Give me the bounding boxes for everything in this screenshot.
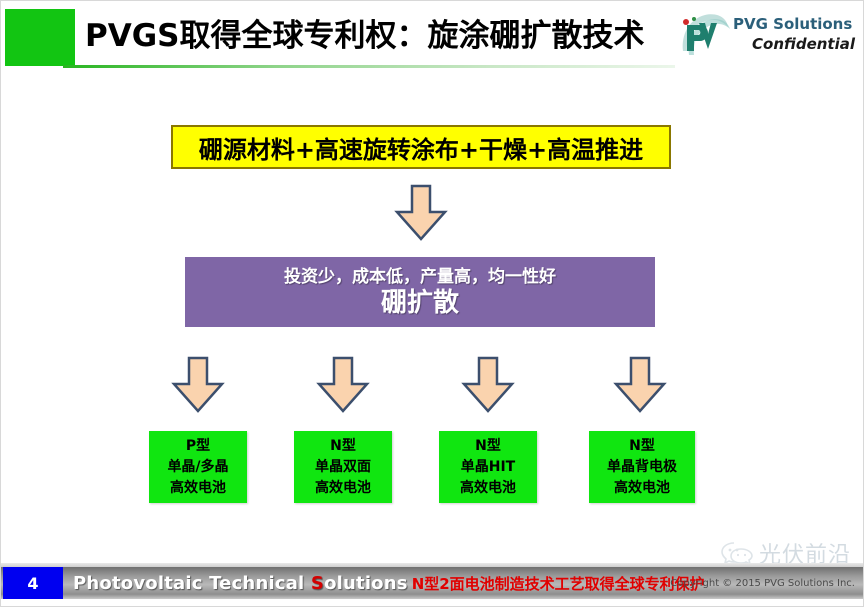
brand-confidential-label: Confidential (733, 34, 855, 54)
footer-brand-line: Photovoltaic Technical Solutions N型2面电池制… (73, 567, 705, 599)
footer-copyright: Copyright © 2015 PVG Solutions Inc. (670, 567, 855, 599)
brand-name: PVG Solutions (733, 15, 855, 34)
outcome-line: 单晶背电极 (607, 457, 677, 478)
footer-brand-s: S (311, 573, 324, 594)
page-title: PVGS取得全球专利权：旋涂硼扩散技术 (85, 13, 665, 59)
down-arrow-icon (461, 356, 515, 414)
outcome-line: 高效电池 (170, 478, 226, 499)
down-arrow-icon (613, 356, 667, 414)
outcome-box-4: N型 单晶背电极 高效电池 (589, 431, 695, 503)
footer-brand-post: olutions (324, 573, 408, 594)
slide-canvas: PVGS取得全球专利权：旋涂硼扩散技术 PVG Solutions Confid… (0, 0, 864, 607)
down-arrow-icon (171, 356, 225, 414)
footer-brand-pre: Photovoltaic Technical Solutions (73, 573, 408, 594)
outcome-line: 高效电池 (614, 478, 670, 499)
brand-logo-text: PVG Solutions Confidential (733, 15, 855, 54)
result-box: 投资少，成本低，产量高，均一性好 硼扩散 (185, 257, 655, 327)
page-number: 4 (27, 574, 38, 593)
outcome-line: 单晶双面 (315, 457, 371, 478)
outcome-line: 高效电池 (460, 478, 516, 499)
footer-tagline-cn: N型2面电池制造技术工艺取得全球专利保护 (412, 573, 705, 594)
outcome-line: N型 (629, 436, 655, 457)
outcome-box-1: P型 单晶/多晶 高效电池 (149, 431, 247, 503)
pvg-logo-icon (675, 9, 731, 63)
process-input-label: 硼源材料+高速旋转涂布+干燥+高温推进 (199, 130, 643, 165)
result-benefits: 投资少，成本低，产量高，均一性好 (284, 266, 556, 288)
outcome-line: 高效电池 (315, 478, 371, 499)
down-arrow-icon (394, 184, 448, 242)
outcome-line: N型 (330, 436, 356, 457)
title-accent-square (5, 9, 75, 66)
footer-brand-pre-text: Photovoltaic Technical (73, 573, 311, 594)
outcome-line: N型 (475, 436, 501, 457)
outcome-line: P型 (186, 436, 210, 457)
page-number-badge: 4 (3, 567, 63, 599)
outcome-box-2: N型 单晶双面 高效电池 (294, 431, 392, 503)
outcome-line: 单晶HIT (461, 457, 515, 478)
process-input-box: 硼源材料+高速旋转涂布+干燥+高温推进 (171, 125, 671, 169)
down-arrow-icon (316, 356, 370, 414)
outcome-box-3: N型 单晶HIT 高效电池 (439, 431, 537, 503)
brand-logo: PVG Solutions Confidential (675, 9, 853, 65)
result-name: 硼扩散 (381, 288, 459, 319)
title-divider (63, 65, 675, 68)
outcome-line: 单晶/多晶 (167, 457, 228, 478)
